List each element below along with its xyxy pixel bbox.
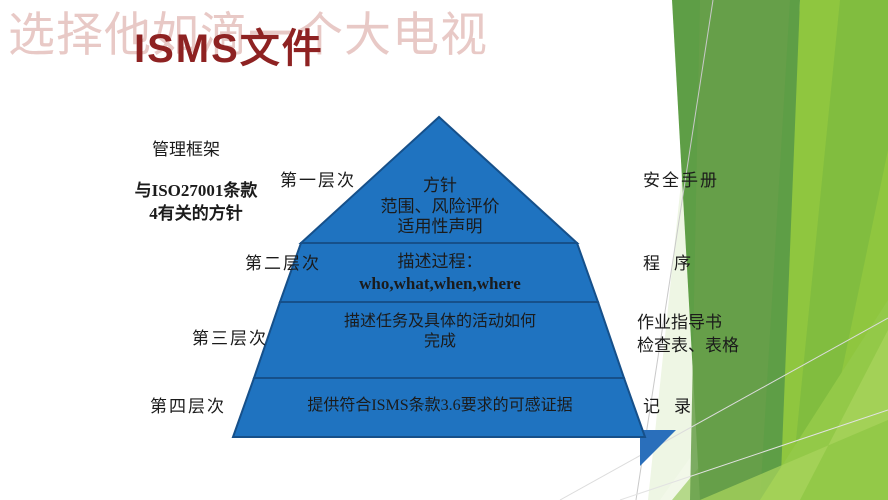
level-label-2: 第二层次 — [245, 253, 321, 276]
level-label-3: 第三层次 — [192, 328, 268, 351]
level-label-4: 第四层次 — [150, 396, 226, 419]
level-label-1: 第一层次 — [280, 170, 356, 193]
pyramid-level-4-text: 提供符合ISMS条款3.6要求的可感证据 — [255, 396, 625, 416]
right-doc-label-4: 记录 — [643, 396, 705, 419]
pyramid-diagram — [0, 0, 888, 500]
left-note-management-framework: 管理框架 — [152, 139, 220, 162]
left-note-iso-clause: 与ISO27001条款 4有关的方针 — [116, 180, 276, 226]
page-title: ISMS文件 — [134, 16, 324, 74]
pyramid-level-2-text-line-2: who,what,when,where — [275, 274, 605, 295]
slide-canvas: 选择他如滴一个大电视 ISMS文件 方针 范围、风险评价 适用性声明 描述过程：… — [0, 0, 888, 500]
right-doc-label-3: 作业指导书 检查表、表格 — [637, 312, 739, 358]
right-doc-label-2: 程序 — [643, 253, 705, 276]
pyramid-level-2-text-line-1: 描述过程： — [330, 252, 550, 273]
pyramid-level-1-text: 方针 范围、风险评价 适用性声明 — [330, 176, 550, 238]
right-doc-label-1: 安全手册 — [643, 170, 719, 193]
pyramid-level-3-text: 描述任务及具体的活动如何 完成 — [300, 312, 580, 351]
